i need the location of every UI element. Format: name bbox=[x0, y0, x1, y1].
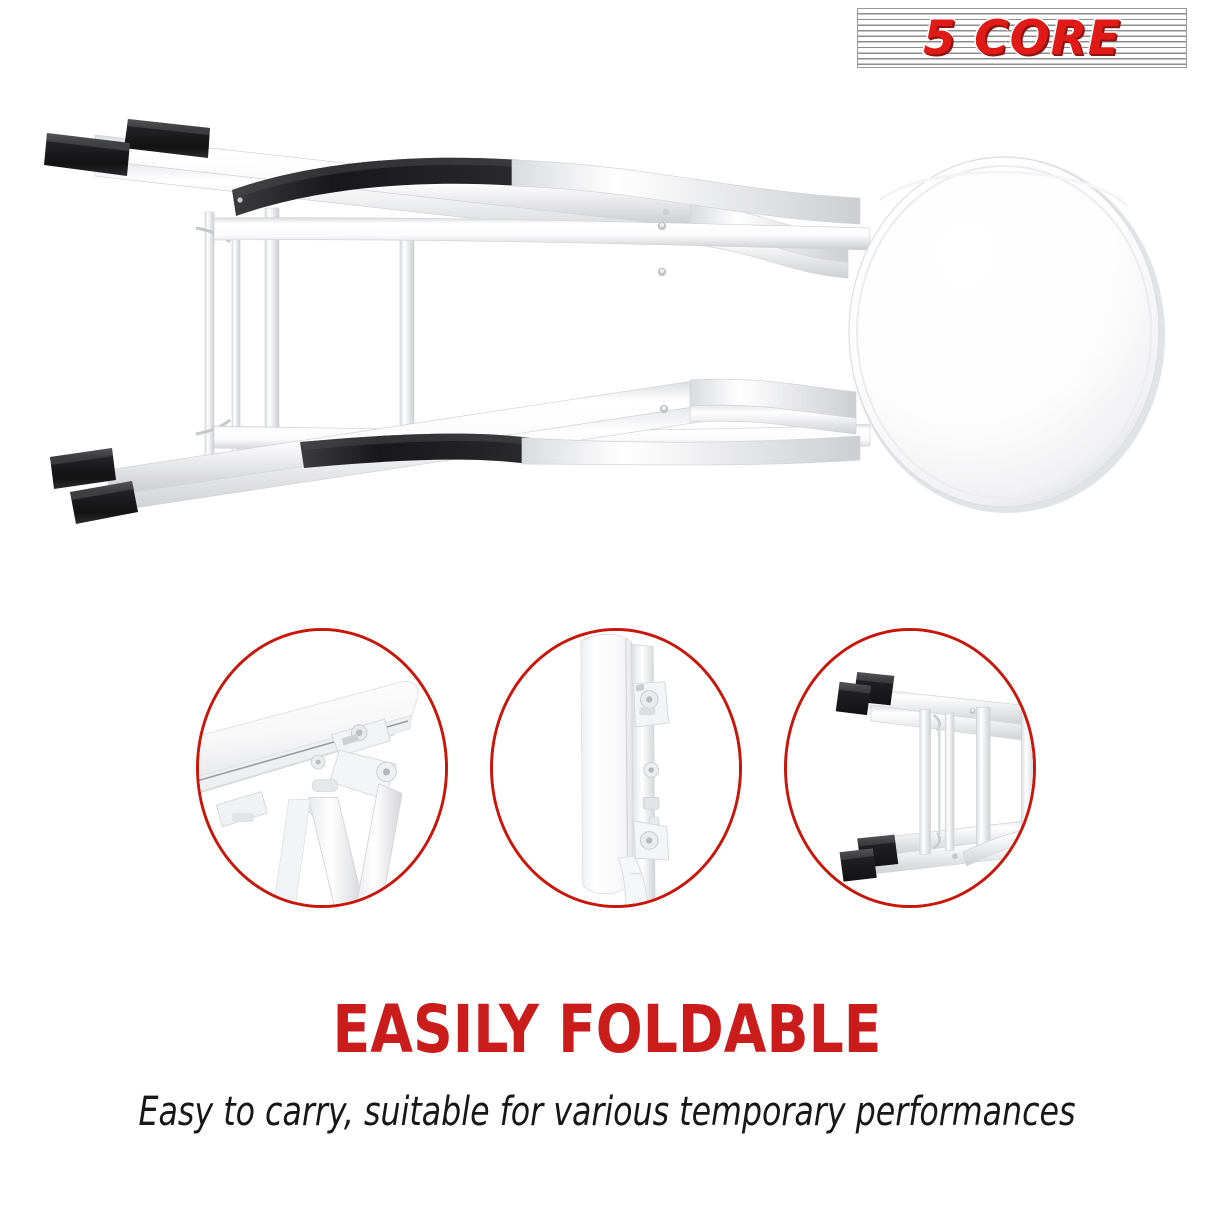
page-subtitle: Easy to carry, suitable for various temp… bbox=[73, 1088, 1141, 1136]
hero-illustration bbox=[0, 40, 1214, 560]
foot-cap-lower-rear bbox=[50, 448, 116, 489]
foot-cap-lower-front bbox=[70, 481, 138, 524]
hinge-illustration bbox=[196, 628, 448, 908]
product-marketing-image: 5 CORE bbox=[0, 0, 1214, 1214]
folded-legs-illustration bbox=[784, 628, 1036, 908]
round-tabletop bbox=[849, 157, 1165, 513]
edge-profile-illustration bbox=[490, 628, 742, 908]
detail-circle-folded-legs bbox=[784, 628, 1036, 908]
detail-circle-hinge bbox=[196, 628, 448, 908]
page-title: EASILY FOLDABLE bbox=[42, 995, 1171, 1065]
detail-circle-edge-profile bbox=[490, 628, 742, 908]
folded-round-table-photo bbox=[0, 40, 1214, 560]
detail-circles-row bbox=[196, 628, 1036, 910]
